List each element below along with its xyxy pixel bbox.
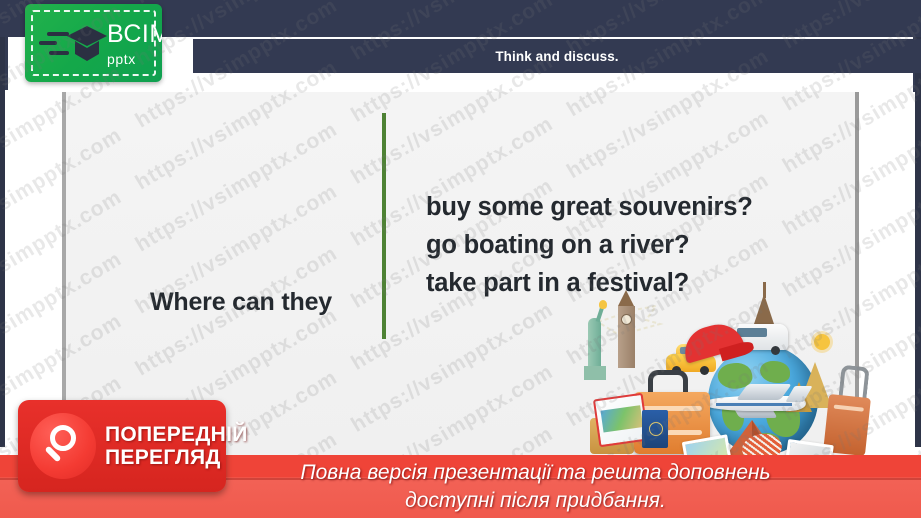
liberty-flame-icon [599, 300, 607, 309]
graduation-cap-icon [65, 24, 109, 64]
magnifier-icon [30, 413, 96, 479]
magnifier-lens-icon [50, 425, 76, 451]
map-icon [593, 393, 649, 447]
slide-preview-stage: Think and discuss. Where can they buy so… [0, 0, 921, 518]
question-option: buy some great souvenirs? [426, 188, 846, 226]
slide-title: Think and discuss. [495, 49, 618, 64]
taxi-wheel-icon [700, 366, 709, 375]
green-divider-line [382, 113, 386, 339]
slide-title-bar: Think and discuss. [193, 39, 921, 73]
vsimpptx-logo[interactable]: ВСІМ pptx [25, 4, 162, 82]
bus-window-icon [737, 328, 767, 337]
question-option: go boating on a river? [426, 226, 846, 264]
statue-of-liberty-icon [588, 318, 601, 370]
passport-icon [642, 410, 668, 448]
sun-icon [814, 334, 830, 350]
preview-badge[interactable]: ПОПЕРЕДНІЙ ПЕРЕГЛЯД [18, 400, 226, 492]
frame-left-edge [0, 37, 5, 447]
preview-badge-line-1: ПОПЕРЕДНІЙ [105, 423, 248, 446]
banner-line-2: доступні після придбання. [300, 487, 770, 515]
banner-line-1: Повна версія презентації та решта доповн… [300, 459, 770, 487]
question-stem: Where can they [116, 288, 366, 317]
liberty-base-icon [584, 366, 606, 380]
bus-wheel-icon [771, 346, 780, 355]
question-options-list: buy some great souvenirs? go boating on … [426, 188, 846, 302]
big-ben-roof-icon [618, 290, 634, 306]
logo-text-block: ВСІМ pptx [107, 22, 162, 66]
big-ben-clock-icon [621, 314, 632, 325]
preview-badge-text: ПОПЕРЕДНІЙ ПЕРЕГЛЯД [105, 423, 248, 469]
frame-right-edge [915, 37, 921, 447]
preview-badge-line-2: ПЕРЕГЛЯД [105, 446, 248, 469]
logo-sub-text: pptx [107, 52, 162, 66]
eiffel-spire-icon [763, 282, 766, 298]
logo-main-text: ВСІМ [107, 22, 162, 47]
airplane-icon [702, 388, 810, 412]
